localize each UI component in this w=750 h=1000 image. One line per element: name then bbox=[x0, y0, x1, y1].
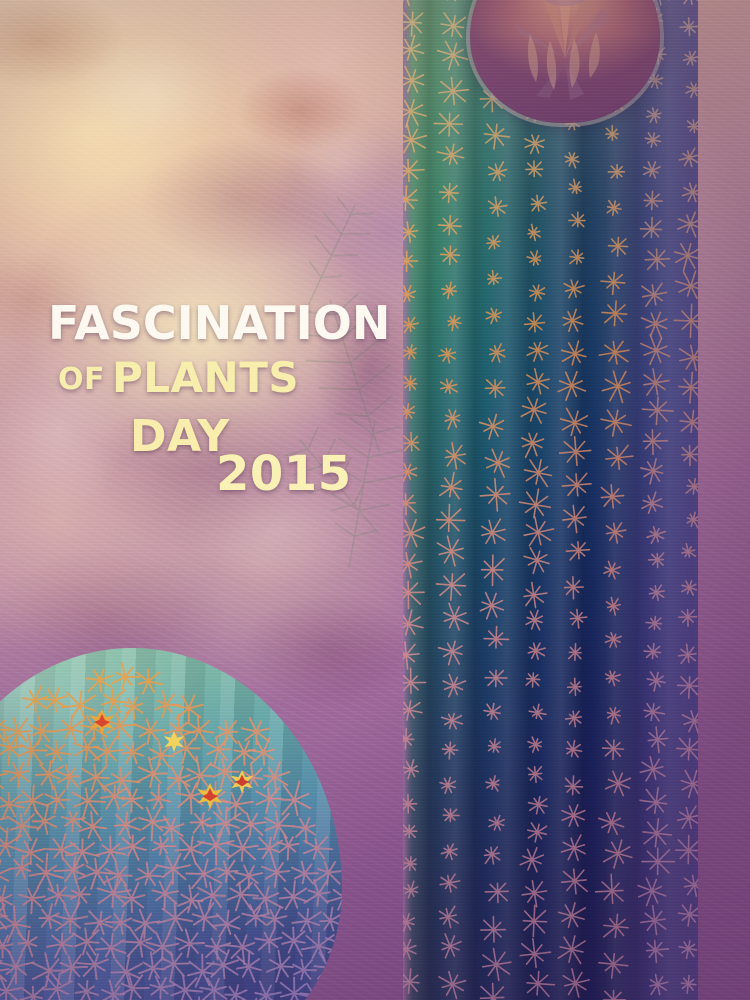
title-line-year: 2015 bbox=[216, 450, 352, 498]
barrel-cactus bbox=[0, 648, 342, 1000]
title-line-fascination: FASCINATION bbox=[48, 300, 390, 346]
saguaro-cactus bbox=[403, 0, 698, 1000]
poster-title-block: FASCINATION OF PLANTS DAY 2015 bbox=[0, 0, 403, 560]
title-line-plants: PLANTS bbox=[112, 357, 299, 399]
cactus-flower bbox=[470, 0, 660, 123]
saguaro-spine-stars bbox=[403, 0, 698, 1000]
title-line-day: DAY bbox=[130, 415, 230, 459]
flower-petals bbox=[470, 0, 660, 123]
title-line-of: OF bbox=[58, 365, 105, 395]
barrel-cactus-buds bbox=[0, 648, 342, 1000]
poster-canvas: FASCINATION OF PLANTS DAY 2015 bbox=[0, 0, 750, 1000]
